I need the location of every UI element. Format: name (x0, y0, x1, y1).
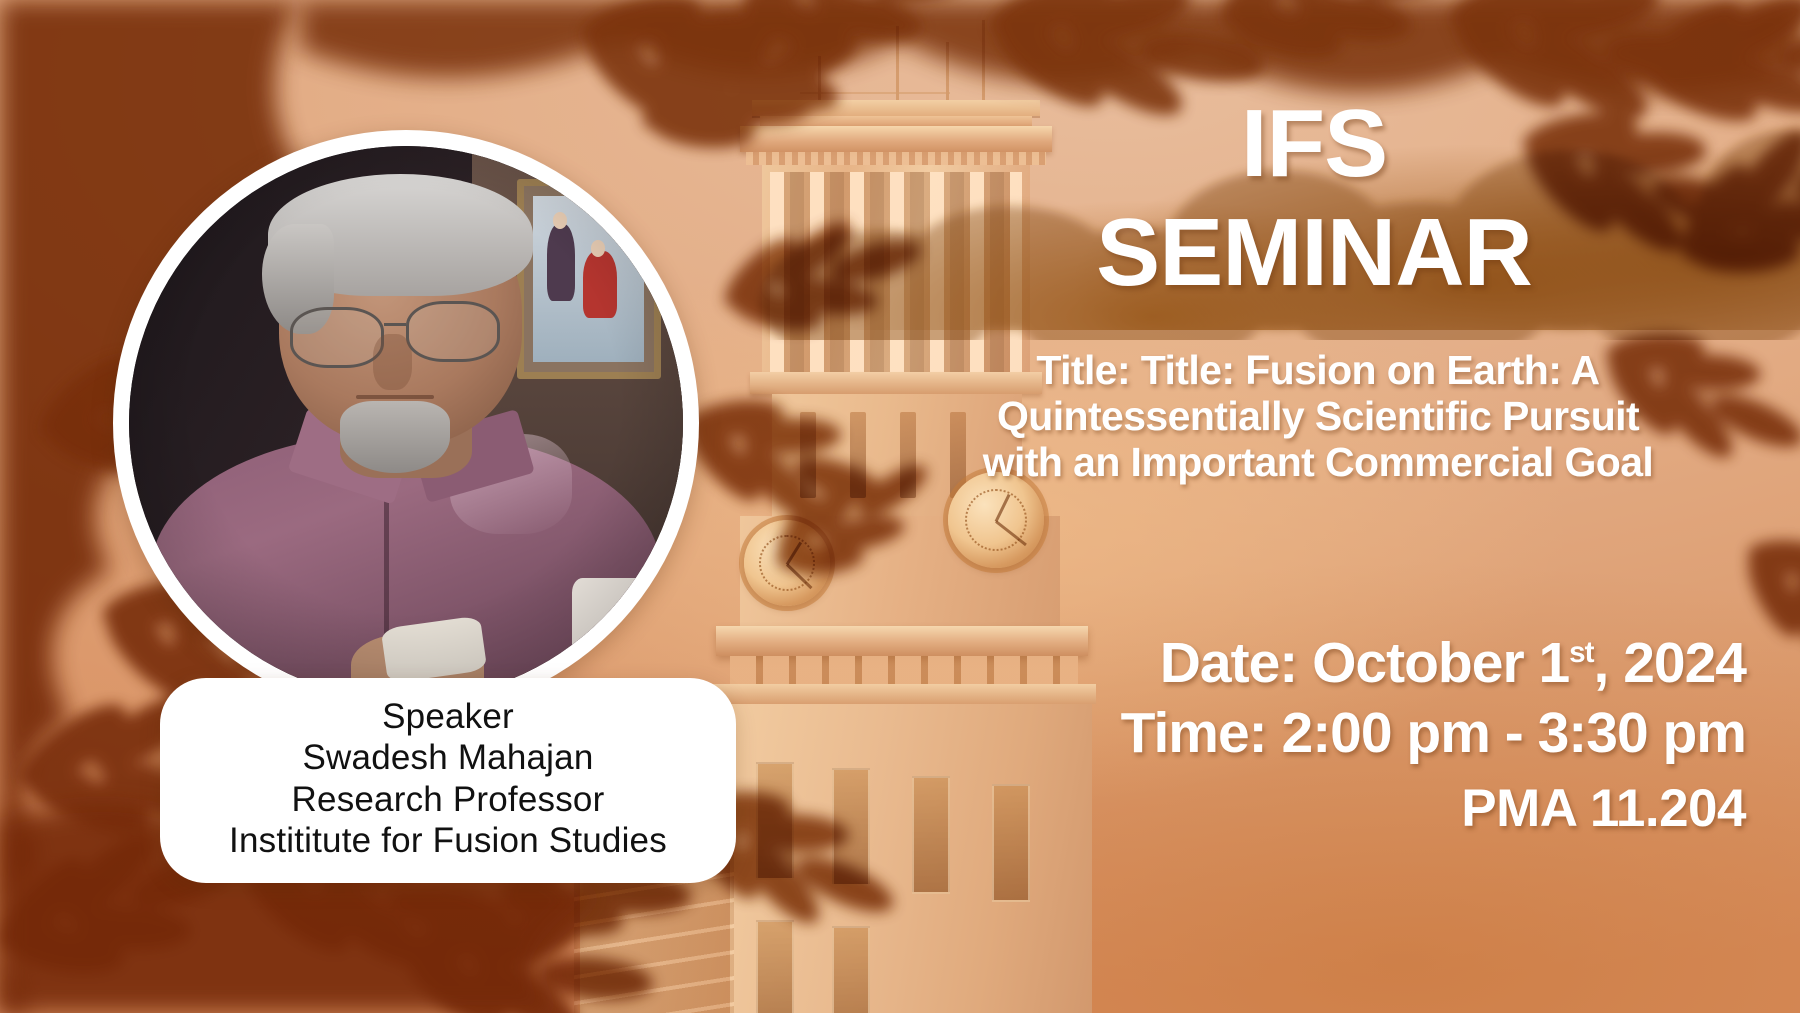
event-time: Time: 2:00 pm - 3:30 pm (1121, 700, 1746, 766)
speaker-name: Swadesh Mahajan (186, 737, 710, 778)
seminar-poster: Speaker Swadesh Mahajan Research Profess… (0, 0, 1800, 1013)
talk-title-line-3: with an Important Commercial Goal (880, 440, 1756, 486)
talk-title-line-2: Quintessentially Scientific Pursuit (880, 394, 1756, 440)
event-date-year: , 2024 (1594, 631, 1746, 695)
talk-title: Title: Title: Fusion on Earth: A Quintes… (880, 348, 1756, 486)
event-details: Date: October 1st, 2024 Time: 2:00 pm - … (1121, 630, 1746, 840)
speaker-portrait-frame (113, 130, 699, 716)
event-date-text: Date: October 1 (1160, 631, 1569, 695)
poster-headline-line-1: IFS (880, 96, 1748, 192)
speaker-info-card: Speaker Swadesh Mahajan Research Profess… (160, 678, 736, 883)
speaker-affiliation: Instititute for Fusion Studies (186, 820, 710, 861)
poster-text-column: IFS SEMINAR Title: Title: Fusion on Eart… (880, 0, 1780, 1013)
event-date-ordinal: st (1569, 636, 1593, 669)
speaker-portrait-photo (129, 146, 683, 700)
talk-title-line-1: Title: Title: Fusion on Earth: A (880, 348, 1756, 394)
speaker-heading: Speaker (186, 696, 710, 737)
event-location: PMA 11.204 (1121, 778, 1746, 839)
poster-headline-line-2: SEMINAR (880, 205, 1748, 301)
speaker-title: Research Professor (186, 779, 710, 820)
event-date: Date: October 1st, 2024 (1121, 630, 1746, 696)
